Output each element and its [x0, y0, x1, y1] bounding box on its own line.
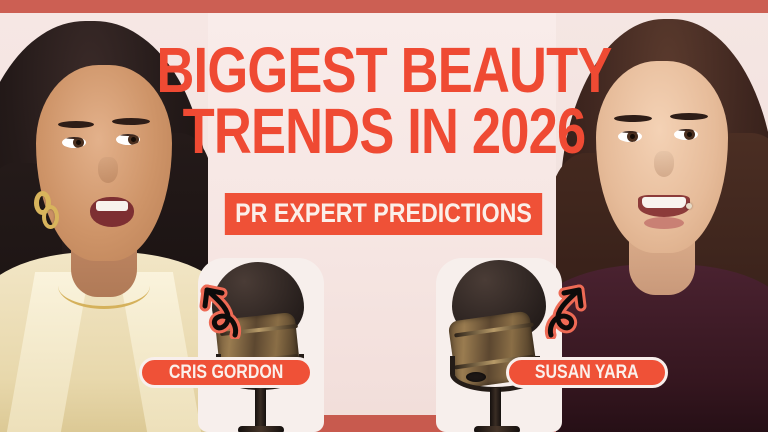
title-line-2: TRENDS IN 2026: [69, 101, 699, 162]
guest-left-necklace: [58, 263, 150, 309]
microphone-right-stand: [490, 388, 501, 430]
thumbnail-subtitle-wrap: PR EXPERT PREDICTIONS: [0, 193, 768, 235]
name-badge-right: SUSAN YARA: [506, 357, 668, 388]
top-accent-bar: [0, 0, 768, 13]
curly-arrow-up-left-icon: [196, 277, 250, 344]
microphone-left-stand: [255, 386, 266, 430]
title-line-1: BIGGEST BEAUTY: [69, 40, 699, 101]
name-badge-right-label: SUSAN YARA: [535, 363, 639, 382]
curly-arrow-up-right-icon: [536, 277, 590, 344]
video-thumbnail: BIGGEST BEAUTY TRENDS IN 2026 PR EXPERT …: [0, 0, 768, 432]
thumbnail-title: BIGGEST BEAUTY TRENDS IN 2026: [0, 40, 768, 163]
subtitle-banner: PR EXPERT PREDICTIONS: [225, 193, 542, 235]
name-badge-left-label: CRIS GORDON: [169, 363, 283, 382]
microphone-right-base: [474, 426, 520, 432]
name-badge-left: CRIS GORDON: [139, 357, 313, 388]
microphone-left-base: [238, 426, 284, 432]
